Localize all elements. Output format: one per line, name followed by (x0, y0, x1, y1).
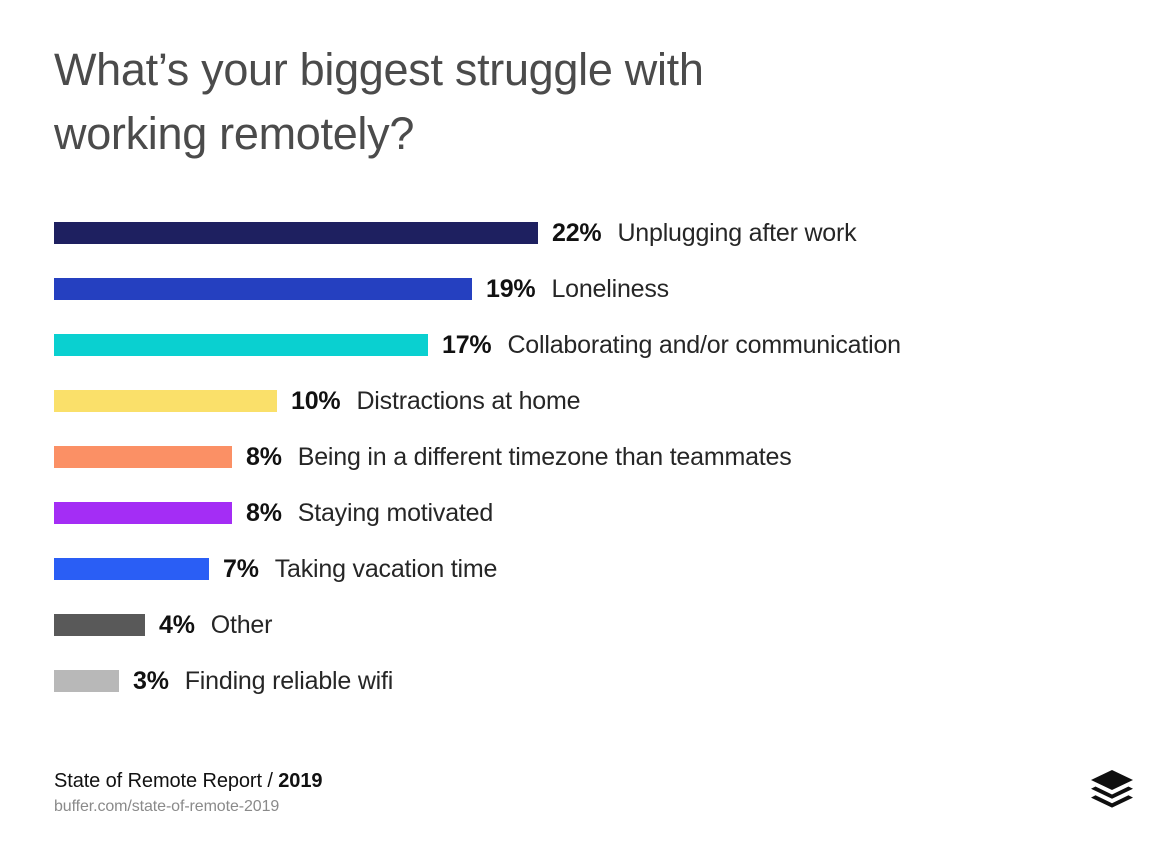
bar-label: Unplugging after work (617, 219, 856, 248)
bar-row: 10%Distractions at home (54, 390, 1134, 412)
bar-label: Finding reliable wifi (185, 667, 393, 696)
bar-value: 10% (291, 387, 340, 416)
bar-row: 3%Finding reliable wifi (54, 670, 1134, 692)
bar-label: Distractions at home (356, 387, 580, 416)
chart-card: What’s your biggest struggle with workin… (0, 0, 1170, 858)
report-name-text: State of Remote Report / (54, 770, 278, 792)
bar-label: Collaborating and/or communication (507, 331, 900, 360)
bar-label: Being in a different timezone than teamm… (298, 443, 792, 472)
bar-row: 8%Staying motivated (54, 502, 1134, 524)
bar-label: Staying motivated (298, 499, 493, 528)
bar-fill (54, 334, 428, 356)
bar-value: 4% (159, 611, 195, 640)
bar-fill (54, 558, 209, 580)
bar-fill (54, 278, 472, 300)
bar-value: 8% (246, 443, 282, 472)
buffer-logo-icon (1088, 768, 1136, 812)
bar-fill (54, 390, 277, 412)
page-title: What’s your biggest struggle with workin… (54, 38, 854, 166)
bar-fill (54, 446, 232, 468)
bar-row: 7%Taking vacation time (54, 558, 1134, 580)
bar-value: 22% (552, 219, 601, 248)
footer: State of Remote Report / 2019 buffer.com… (54, 770, 322, 816)
bar-fill (54, 670, 119, 692)
bar-row: 17%Collaborating and/or communication (54, 334, 1134, 356)
report-url: buffer.com/state-of-remote-2019 (54, 798, 322, 816)
bar-fill (54, 222, 538, 244)
bar-value: 8% (246, 499, 282, 528)
bar-value: 7% (223, 555, 259, 584)
bar-row: 22%Unplugging after work (54, 222, 1134, 244)
bar-value: 19% (486, 275, 535, 304)
bar-fill (54, 502, 232, 524)
bar-label: Loneliness (551, 275, 669, 304)
report-year: 2019 (278, 770, 322, 792)
bar-label: Other (211, 611, 273, 640)
bar-chart: 22%Unplugging after work19%Loneliness17%… (54, 222, 1134, 692)
bar-label: Taking vacation time (275, 555, 498, 584)
bar-row: 8%Being in a different timezone than tea… (54, 446, 1134, 468)
bar-fill (54, 614, 145, 636)
bar-value: 17% (442, 331, 491, 360)
bar-value: 3% (133, 667, 169, 696)
report-name: State of Remote Report / 2019 (54, 770, 322, 793)
bar-row: 4%Other (54, 614, 1134, 636)
bar-row: 19%Loneliness (54, 278, 1134, 300)
